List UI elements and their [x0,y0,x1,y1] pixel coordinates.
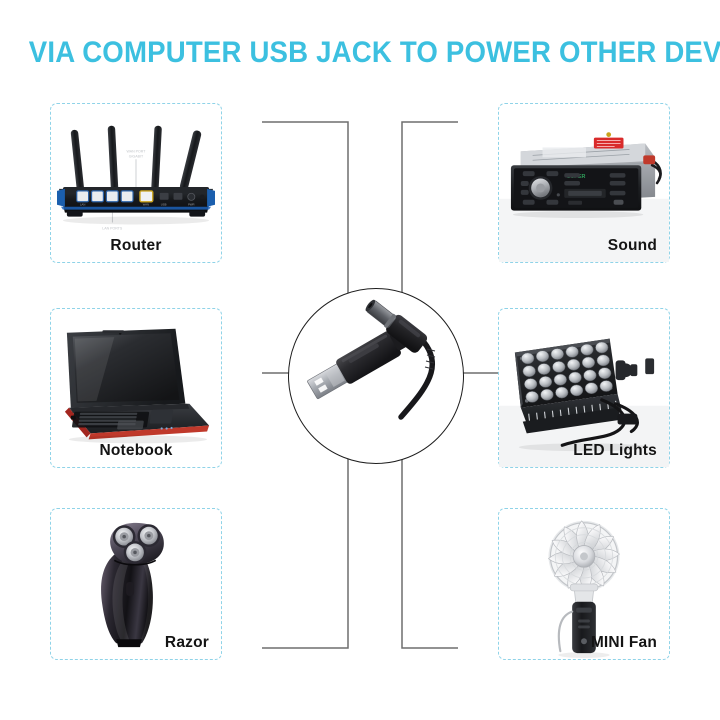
svg-text:LAN: LAN [80,203,85,207]
wire-router [262,122,348,300]
svg-text:LAN PORTS: LAN PORTS [102,226,123,230]
svg-text:WAN: WAN [143,203,149,207]
panel-label-fan: MINI Fan [591,634,657,652]
page-title: VIA COMPUTER USB JACK TO POWER OTHER DEV… [29,36,691,70]
device-panel-razor[interactable]: Razor [50,508,222,660]
svg-text:PWR: PWR [188,203,194,207]
center-hub-circle [288,288,464,464]
panel-label-notebook: Notebook [51,442,221,460]
panel-label-led: LED Lights [573,442,657,460]
svg-text:WAN PORT: WAN PORT [127,149,147,153]
device-panel-router[interactable]: WAN PORT GIGABIT LAN PORTS [50,103,222,263]
svg-text:GIGABIT: GIGABIT [129,154,144,158]
usb-to-dc-barrel-cable-icon [289,289,463,463]
device-panel-led[interactable]: LED Lights [498,308,670,468]
panel-label-router: Router [51,237,221,255]
wire-sound [402,122,458,300]
panel-label-sound: Sound [608,237,657,255]
device-panel-fan[interactable]: MINI Fan [498,508,670,660]
panel-label-razor: Razor [165,634,209,652]
wire-fan [402,450,458,648]
device-panel-sound[interactable]: SUPER [498,103,670,263]
wire-razor [262,450,348,648]
infographic-canvas: VIA COMPUTER USB JACK TO POWER OTHER DEV… [0,0,720,720]
device-panel-notebook[interactable]: acer [50,308,222,468]
svg-text:USB: USB [161,203,167,207]
